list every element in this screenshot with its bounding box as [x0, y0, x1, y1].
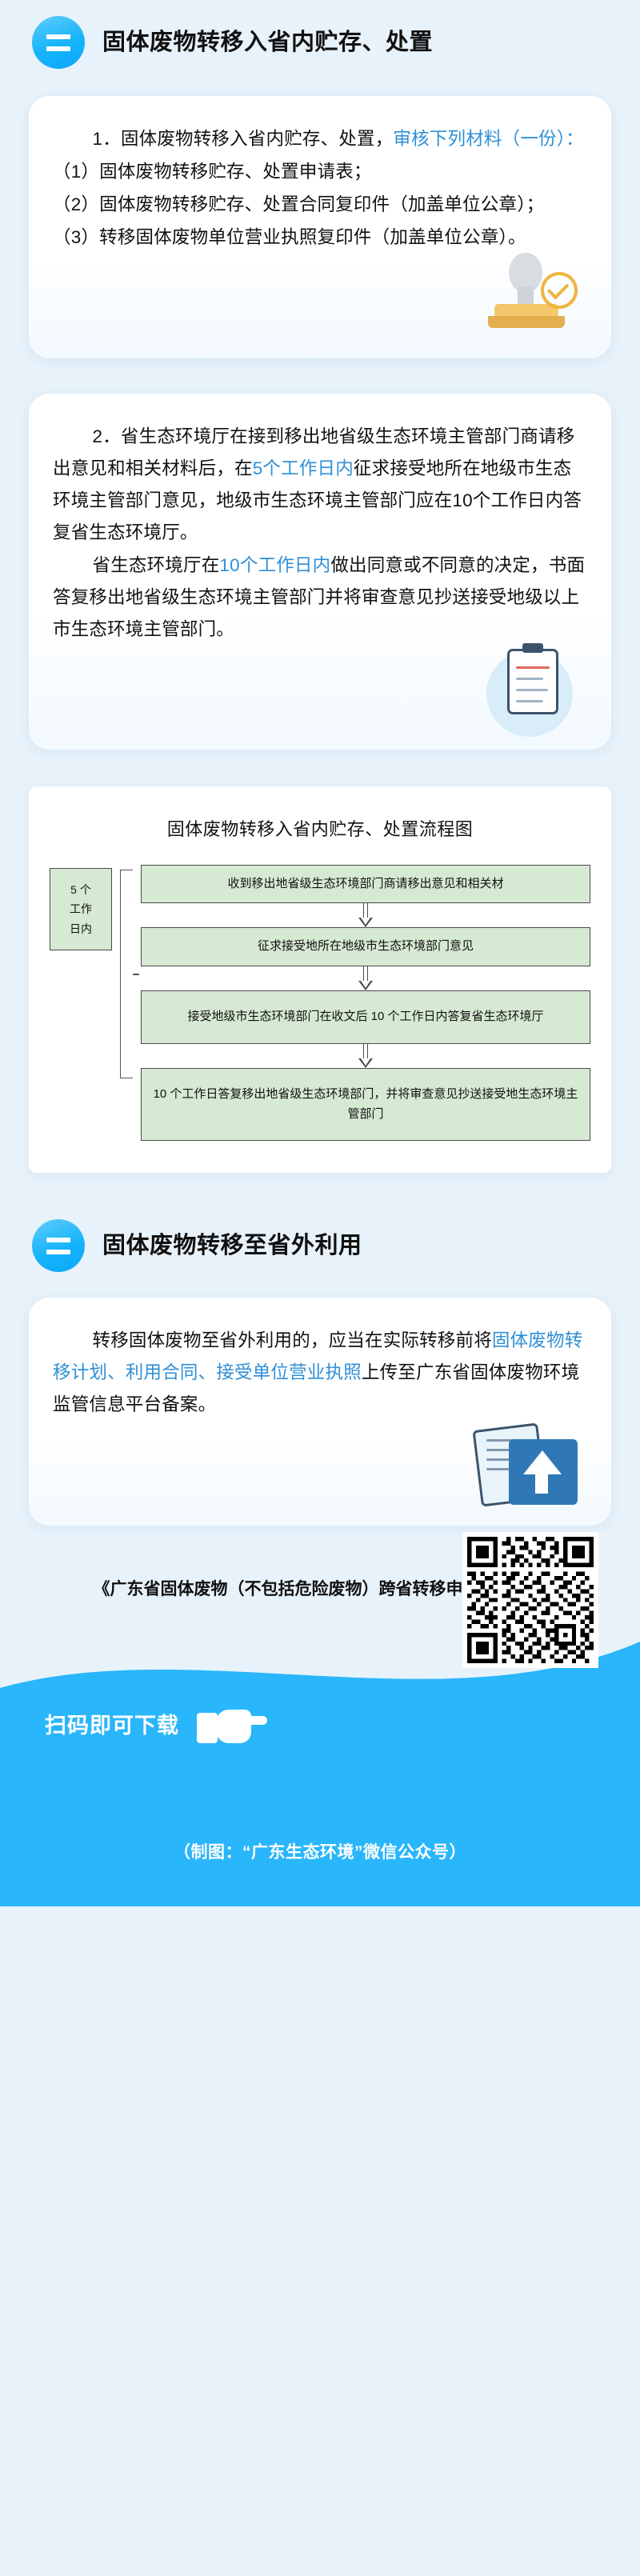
pointing-hand-icon — [197, 1703, 266, 1745]
section-header-1: 固体废物转移入省内贮存、处置 — [0, 16, 640, 69]
card-procedure: 2．省生态环境厅在接到移出地省级生态环境主管部门商请移出意见和相关材料后，在5个… — [29, 394, 611, 749]
card1-line1-a: 1．固体废物转移入省内贮存、处置， — [93, 129, 394, 149]
card1-item-2: （2）固体废物转移贮存、处置合同复印件（加盖单位公章）； — [53, 189, 587, 221]
flowchart-step-3: 接受地级市生态环境部门在收文后 10 个工作日内答复省生态环境厅 — [141, 990, 590, 1044]
card2-p2-a: 省生态环境厅在 — [93, 555, 220, 575]
section-title-2: 固体废物转移至省外利用 — [102, 1231, 362, 1260]
flowchart-arrow-1 — [359, 903, 372, 927]
flowchart-title: 固体废物转移入省内贮存、处置流程图 — [50, 815, 590, 841]
card2-p2-highlight: 10个工作日内 — [219, 555, 330, 575]
section-title-1: 固体废物转移入省内贮存、处置 — [102, 28, 433, 57]
card1-item-3: （3）转移固体废物单位营业执照复印件（加盖单位公章）。 — [53, 222, 587, 254]
clipboard-icon — [486, 642, 582, 737]
flowchart-duration-box: 5 个 工作 日内 — [50, 868, 112, 951]
qr-code-image — [467, 1537, 594, 1663]
duration-line-2: 工作 — [54, 899, 108, 919]
card-2-text: 2．省生态环境厅在接到移出地省级生态环境主管部门商请移出意见和相关材料后，在5个… — [53, 421, 587, 646]
card3-p-a: 转移固体废物至省外利用的，应当在实际转移前将 — [93, 1330, 492, 1350]
card2-p1-highlight: 5个工作日内 — [253, 458, 354, 478]
flowchart-card: 固体废物转移入省内贮存、处置流程图 5 个 工作 日内 收到移出地省级生态环境部… — [29, 786, 611, 1174]
flowchart-arrow-2 — [359, 966, 372, 990]
duration-line-1: 5 个 — [54, 880, 108, 900]
flowchart-duration-column: 5 个 工作 日内 — [50, 865, 112, 1142]
flowchart-step-4: 10 个工作日答复移出地省级生态环境部门，并将审查意见抄送接受地生态环境主管部门 — [141, 1068, 590, 1142]
official-stamp-icon — [480, 251, 584, 347]
flowchart-brace — [120, 870, 133, 1079]
flowchart-step-1: 收到移出地省级生态环境部门商请移出意见和相关材 — [141, 865, 590, 904]
card-out-of-province: 转移固体废物至省外利用的，应当在实际转移前将固体废物转移计划、利用合同、接受单位… — [29, 1298, 611, 1526]
card-requirements: 1．固体废物转移入省内贮存、处置，审核下列材料（一份）： （1）固体废物转移贮存… — [29, 96, 611, 358]
flowchart-steps: 收到移出地省级生态环境部门商请移出意见和相关材 征求接受地所在地级市生态环境部门… — [141, 865, 590, 1142]
footer-section: 扫码即可下载 （制图：“广东生态环境”微信公众号） — [0, 1626, 640, 1906]
flowchart-step-2: 征求接受地所在地级市生态环境部门意见 — [141, 927, 590, 966]
section-header-2: 固体废物转移至省外利用 — [0, 1219, 640, 1272]
card-3-text: 转移固体废物至省外利用的，应当在实际转移前将固体废物转移计划、利用合同、接受单位… — [53, 1325, 587, 1421]
duration-line-3: 日内 — [54, 919, 108, 939]
footer-credit: （制图：“广东生态环境”微信公众号） — [0, 1745, 640, 1906]
section-badge-icon — [32, 16, 85, 69]
scan-label: 扫码即可下载 — [45, 1708, 179, 1739]
flowchart-body: 5 个 工作 日内 收到移出地省级生态环境部门商请移出意见和相关材 征求接受地所… — [50, 865, 590, 1142]
card-1-text: 1．固体废物转移入省内贮存、处置，审核下列材料（一份）： （1）固体废物转移贮存… — [53, 123, 587, 254]
card1-item-1: （1）固体废物转移贮存、处置申请表； — [53, 156, 587, 188]
qr-code[interactable] — [462, 1532, 598, 1668]
section-badge-icon-2 — [32, 1219, 85, 1272]
upload-documents-icon — [474, 1422, 586, 1518]
card1-line1-highlight: 审核下列材料（一份）： — [393, 129, 583, 149]
flowchart-arrow-3 — [359, 1044, 372, 1068]
